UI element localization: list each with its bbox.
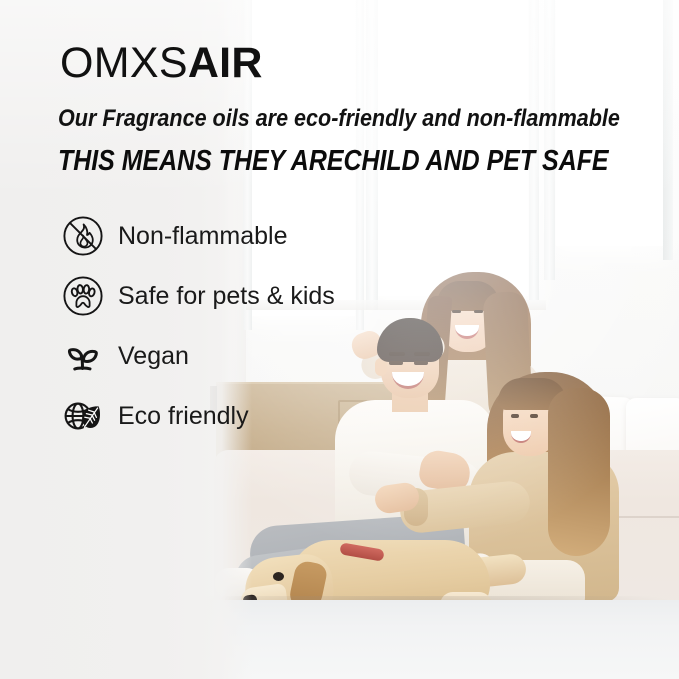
feature-label: Eco friendly: [118, 402, 249, 431]
feature-item-safe-for-pets: Safe for pets & kids: [56, 266, 335, 326]
sprout-icon: [56, 332, 110, 380]
paw-print-icon: [56, 272, 110, 320]
feature-label: Safe for pets & kids: [118, 282, 335, 311]
feature-list: Non-flammable Safe for pets & kids: [56, 206, 335, 446]
feature-item-vegan: Vegan: [56, 326, 335, 386]
headline-line-2: THIS MEANS THEY ARECHILD AND PET SAFE: [58, 145, 591, 177]
headline-line-1: Our Fragrance oils are eco-friendly and …: [58, 105, 586, 132]
product-feature-banner: OMXSAIR Our Fragrance oils are eco-frien…: [0, 0, 679, 679]
feature-item-non-flammable: Non-flammable: [56, 206, 335, 266]
feature-label: Non-flammable: [118, 222, 288, 251]
brand-logo-light: OMXS: [60, 39, 188, 87]
no-flame-icon: [56, 212, 110, 260]
feature-label: Vegan: [118, 342, 189, 371]
banner-content: OMXSAIR Our Fragrance oils are eco-frien…: [0, 0, 679, 679]
brand-logo: OMXSAIR: [60, 42, 263, 85]
feature-item-eco-friendly: Eco friendly: [56, 386, 335, 446]
brand-logo-bold: AIR: [188, 39, 263, 87]
globe-leaf-icon: [56, 392, 110, 440]
